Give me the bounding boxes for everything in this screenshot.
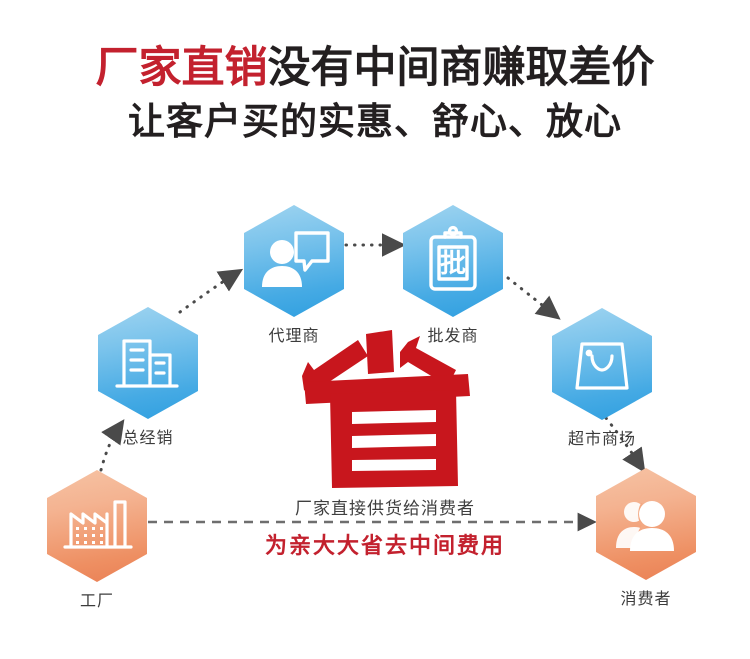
arrow-distributor-to-agent (180, 272, 238, 312)
node-label-supermarket: 超市商场 (532, 425, 672, 449)
supply-chain-diagram: 工厂 总经销 (0, 0, 750, 659)
person-chat-icon (244, 205, 344, 317)
node-label-distributor: 总经销 (98, 424, 198, 448)
shopping-bag-icon (552, 308, 652, 420)
wholesaler-glyph: 批 (440, 250, 466, 276)
sheng-character-icon (296, 318, 474, 490)
consumer-hexagon (596, 468, 696, 580)
poster-canvas: 厂家直销没有中间商赚取差价 让客户买的实惠、舒心、放心 (0, 0, 750, 659)
wholesaler-hexagon: 批 (403, 205, 503, 317)
node-consumer[interactable]: 消费者 (596, 468, 696, 609)
office-building-icon (98, 307, 198, 419)
factory-icon (47, 470, 147, 582)
arrow-wholesaler-to-supermarket (508, 278, 556, 316)
node-factory[interactable]: 工厂 (47, 470, 147, 611)
supermarket-hexagon (552, 308, 652, 420)
node-distributor[interactable]: 总经销 (98, 307, 198, 448)
direct-supply-caption: 厂家直接供货给消费者 (255, 494, 515, 519)
distributor-hexagon (98, 307, 198, 419)
agent-hexagon (244, 205, 344, 317)
node-label-consumer: 消费者 (596, 585, 696, 609)
two-people-icon (596, 468, 696, 580)
node-supermarket[interactable]: 超市商场 (552, 308, 652, 449)
node-label-factory: 工厂 (47, 587, 147, 611)
factory-hexagon (47, 470, 147, 582)
seal-sheng (296, 318, 474, 490)
savings-caption: 为亲大大省去中间费用 (240, 528, 530, 560)
wholesaler-glyph-wrap: 批 (403, 205, 503, 317)
